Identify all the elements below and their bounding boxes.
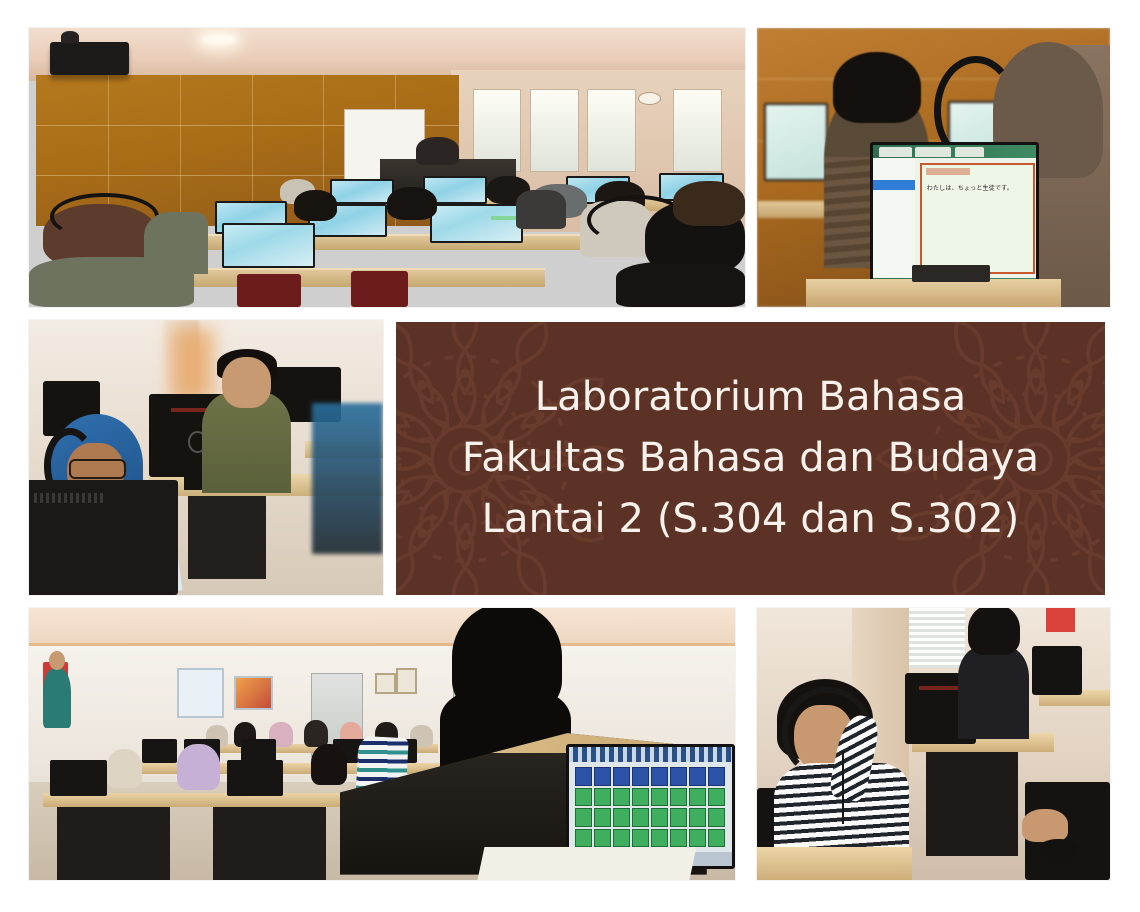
head: [968, 608, 1020, 655]
desk-front: [57, 807, 170, 880]
student-right-blur: [312, 403, 383, 554]
sidebar-selected-item[interactable]: [873, 180, 915, 191]
student: [304, 720, 328, 747]
face: [222, 357, 272, 408]
browser-tab[interactable]: [955, 147, 984, 157]
chair: [351, 271, 408, 307]
window-blinds: [909, 608, 965, 668]
document-title-bar: [926, 168, 970, 175]
headset: [50, 193, 158, 240]
photo-collage: わたしは、ちょっと生徒です。: [0, 0, 1140, 912]
window: [587, 89, 636, 172]
student-male: [202, 392, 291, 494]
monitor: [50, 760, 106, 795]
foreground-monitor: [29, 480, 178, 596]
student: [107, 749, 142, 787]
monitor: [764, 103, 828, 181]
browser-tab[interactable]: [915, 147, 951, 157]
student-monitor-scene: わたしは、ちょっと生徒です。: [757, 28, 1110, 307]
student-head: [673, 181, 745, 226]
photo-lab-overview: [29, 608, 735, 880]
title-line-3: Lantai 2 (S.304 dan S.302): [462, 489, 1039, 550]
headset-student-scene: [757, 608, 1110, 880]
student: [311, 744, 346, 785]
lab-overview-scene: [29, 608, 735, 880]
console-toolbar: [569, 747, 732, 762]
student-background: [958, 646, 1029, 738]
raised-arm: [144, 212, 208, 273]
sidebar-panel: [873, 158, 915, 277]
student-body: [516, 190, 566, 229]
hand: [1022, 809, 1068, 842]
monitor: [222, 223, 315, 268]
photo-hijab-student: [29, 320, 383, 595]
chair: [237, 274, 301, 307]
title-panel: Laboratorium Bahasa Fakultas Bahasa dan …: [396, 322, 1105, 595]
browser-tab[interactable]: [879, 147, 912, 157]
monitor-vent: [34, 493, 103, 502]
window: [673, 89, 722, 172]
hijab-student-scene: [29, 320, 383, 595]
ceiling-light: [201, 34, 237, 45]
window: [530, 89, 579, 172]
wall-fixture: [1046, 608, 1074, 632]
desk-front: [188, 496, 266, 579]
hair: [833, 52, 922, 123]
desk-front: [213, 807, 326, 880]
desk: [757, 847, 912, 880]
photo-classroom-wide: [29, 28, 745, 307]
monitor: [330, 179, 394, 204]
student-head: [387, 187, 437, 220]
desk: [806, 279, 1060, 307]
wall-poster: [177, 668, 223, 718]
student-body: [616, 262, 745, 307]
photo-headset-student: [757, 608, 1110, 880]
monitor: [430, 204, 523, 243]
desk-front: [926, 752, 1018, 855]
title-line-2: Fakultas Bahasa dan Budaya: [462, 428, 1039, 489]
title-line-1: Laboratorium Bahasa: [462, 367, 1039, 428]
student: [177, 744, 219, 790]
window-glow: [171, 328, 213, 400]
projector: [50, 42, 129, 75]
student-head: [294, 190, 337, 221]
wall-artwork: [234, 676, 273, 710]
title-text-block: Laboratorium Bahasa Fakultas Bahasa dan …: [448, 367, 1053, 549]
instructor: [43, 668, 71, 728]
papers-on-desk: [477, 847, 696, 880]
photo-student-monitor: わたしは、ちょっと生徒です。: [757, 28, 1110, 307]
seating-chart-grid[interactable]: [575, 767, 725, 847]
monitor: [227, 760, 283, 795]
monitor: [1032, 646, 1081, 695]
monitor-bezel-stripe: [919, 686, 959, 690]
classroom-wide-scene: [29, 28, 745, 307]
teacher: [416, 137, 459, 165]
headphone-cord: [842, 751, 844, 823]
screen-japanese-text: わたしは、ちょっと生徒です。: [927, 184, 1029, 193]
document-pane: わたしは、ちょっと生徒です。: [920, 163, 1035, 274]
mouse: [1039, 839, 1078, 858]
keyboard: [912, 265, 990, 282]
monitor: [142, 739, 177, 763]
